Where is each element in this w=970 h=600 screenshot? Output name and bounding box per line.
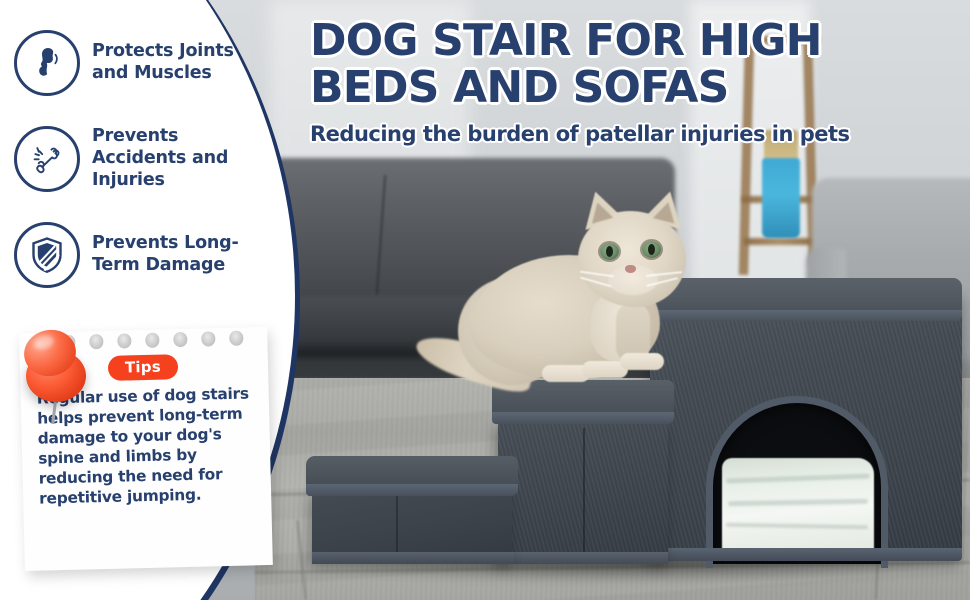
broken-bone-icon	[14, 126, 80, 192]
feature-item-prevents-accidents: Prevents Accidents and Injuries	[14, 126, 272, 192]
note-hole	[117, 333, 131, 348]
headline-subtitle: Reducing the burden of patellar injuries…	[310, 122, 960, 146]
middle-step-seam	[583, 428, 585, 560]
bottom-step-base-piping	[312, 552, 514, 564]
feature-item-protects-joints: Protects Joints and Muscles	[14, 30, 272, 96]
knee-joint-icon	[14, 30, 80, 96]
pet-house-base-piping	[650, 548, 962, 561]
feature-item-prevents-damage: Prevents Long-Term Damage	[14, 222, 272, 288]
tips-note: Tips Regular use of dog stairs helps pre…	[14, 322, 282, 580]
feature-label: Protects Joints and Muscles	[92, 41, 272, 84]
headline-block: DOG STAIR FOR HIGH BEDS AND SOFAS Reduci…	[310, 18, 960, 146]
kitten-pupil-left	[606, 246, 613, 257]
kitten	[430, 185, 730, 445]
headline-line-1: DOG STAIR FOR HIGH	[310, 18, 960, 65]
note-hole	[229, 331, 243, 346]
feature-label: Prevents Accidents and Injuries	[92, 126, 272, 191]
middle-step-base-piping	[498, 552, 668, 564]
note-hole	[173, 332, 187, 347]
kitten-pupil-right	[648, 244, 655, 255]
tips-badge: Tips	[108, 354, 178, 381]
headline-line-2: BEDS AND SOFAS	[310, 65, 960, 112]
kitten-nose	[625, 265, 636, 273]
pet-house-inner-cushion	[722, 458, 874, 554]
shield-icon	[14, 222, 80, 288]
banner-stage: Protects Joints and Muscles Prevents Acc…	[0, 0, 970, 600]
kitten-paw	[620, 353, 664, 370]
note-hole	[201, 331, 215, 346]
feature-label: Prevents Long-Term Damage	[92, 233, 272, 276]
pushpin-icon	[14, 328, 100, 424]
note-hole	[145, 333, 159, 348]
feature-panel: Protects Joints and Muscles Prevents Acc…	[0, 0, 300, 600]
bottom-step-piping	[306, 484, 518, 496]
